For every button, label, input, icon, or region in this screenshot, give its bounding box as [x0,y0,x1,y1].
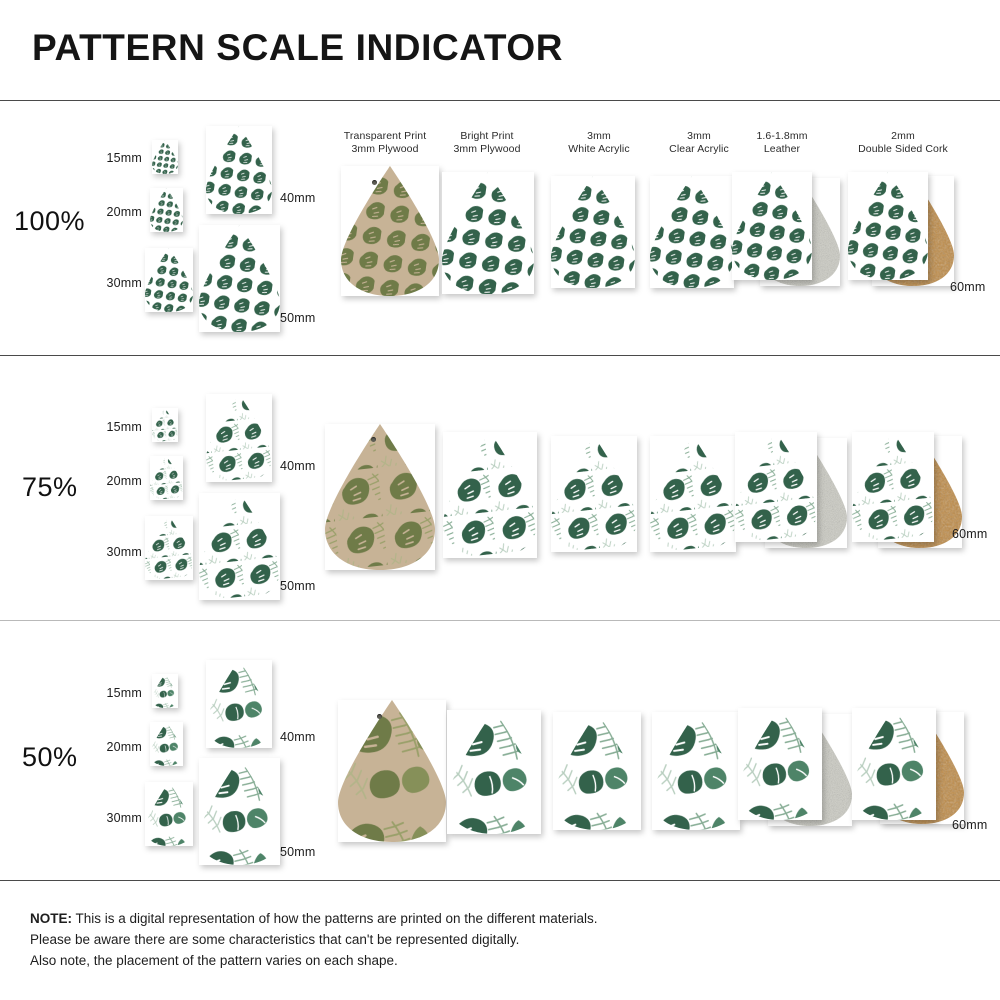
sample-drop-40mm-row-100 [206,126,272,214]
column-header-line2: Double Sided Cork [828,143,978,156]
scale-label-100: 100% [14,206,85,237]
sample-drop-40mm-row-75 [206,394,272,482]
size-label-20mm-row-75: 20mm [100,474,142,488]
material-drop-white-acrylic-row-75 [551,436,637,552]
page-title: PATTERN SCALE INDICATOR [32,27,563,69]
size-label-15mm-row-50: 15mm [100,686,142,700]
material-drop-clear-acrylic-row-75 [650,436,736,552]
size-label-30mm-row-50: 30mm [100,811,142,825]
sample-drop-20mm-row-100 [150,188,183,232]
sample-drop-30mm-row-100 [145,248,193,312]
material-drop-cork-front-row-100 [848,172,928,280]
size-label-40mm-row-50: 40mm [280,730,316,744]
size-label-20mm-row-100: 20mm [100,205,142,219]
hanging-hole-icon [372,180,377,185]
divider-bottom [0,880,1000,881]
pattern-scale-indicator-page: PATTERN SCALE INDICATOR Transparent Prin… [0,0,1000,1000]
sample-drop-15mm-row-100 [152,140,178,174]
size-label-50mm-row-50: 50mm [280,845,316,859]
material-drop-leather-front-row-100 [732,172,812,280]
note-line1-text: This is a digital representation of how … [72,911,598,926]
material-drop-transparent-print-plywood-row-75 [325,424,435,570]
note-block: NOTE: This is a digital representation o… [30,908,598,971]
size-label-30mm-row-100: 30mm [100,276,142,290]
sample-drop-50mm-row-50 [199,758,280,865]
size-label-50mm-row-75: 50mm [280,579,316,593]
material-drop-bright-print-plywood-row-100 [442,172,534,294]
divider-row-100-75 [0,355,1000,356]
material-drop-transparent-print-plywood-row-100 [341,166,439,296]
size-label-20mm-row-50: 20mm [100,740,142,754]
sample-drop-30mm-row-50 [145,782,193,846]
material-drop-clear-acrylic-row-50 [652,712,740,830]
scale-label-50: 50% [22,742,78,773]
size-label-15mm-row-75: 15mm [100,420,142,434]
column-header-double-sided-cork: 2mm Double Sided Cork [828,130,978,155]
sample-drop-15mm-row-50 [152,674,178,708]
note-label: NOTE: [30,911,72,926]
hanging-hole-icon [377,714,382,719]
material-drop-leather-front-row-75 [735,432,817,542]
material-drop-white-acrylic-row-50 [553,712,641,830]
sample-drop-50mm-row-75 [199,493,280,600]
sample-drop-40mm-row-50 [206,660,272,748]
sample-drop-20mm-row-75 [150,456,183,500]
size-label-30mm-row-75: 30mm [100,545,142,559]
size-label-60mm-row-75: 60mm [952,527,988,541]
material-drop-white-acrylic-row-100 [551,176,635,288]
size-label-15mm-row-100: 15mm [100,151,142,165]
divider-row-75-50 [0,620,1000,621]
divider-top [0,100,1000,101]
sample-drop-15mm-row-75 [152,408,178,442]
scale-label-75: 75% [22,472,78,503]
sample-drop-30mm-row-75 [145,516,193,580]
size-label-40mm-row-75: 40mm [280,459,316,473]
size-label-60mm-row-100: 60mm [950,280,986,294]
size-label-60mm-row-50: 60mm [952,818,988,832]
material-drop-bright-print-plywood-row-50 [447,710,541,834]
sample-drop-20mm-row-50 [150,722,183,766]
material-drop-bright-print-plywood-row-75 [443,432,537,558]
sample-drop-50mm-row-100 [199,225,280,332]
size-label-40mm-row-100: 40mm [280,191,316,205]
material-drop-cork-front-row-50 [852,708,936,820]
material-drop-transparent-print-plywood-row-50 [338,700,446,842]
material-drop-clear-acrylic-row-100 [650,176,734,288]
note-line-2: Please be aware there are some character… [30,929,598,950]
material-drop-leather-front-row-50 [738,708,822,820]
note-line-1: NOTE: This is a digital representation o… [30,908,598,929]
note-line-3: Also note, the placement of the pattern … [30,950,598,971]
hanging-hole-icon [371,437,376,442]
material-drop-cork-front-row-75 [852,432,934,542]
column-header-line1: 2mm [828,130,978,143]
size-label-50mm-row-100: 50mm [280,311,316,325]
